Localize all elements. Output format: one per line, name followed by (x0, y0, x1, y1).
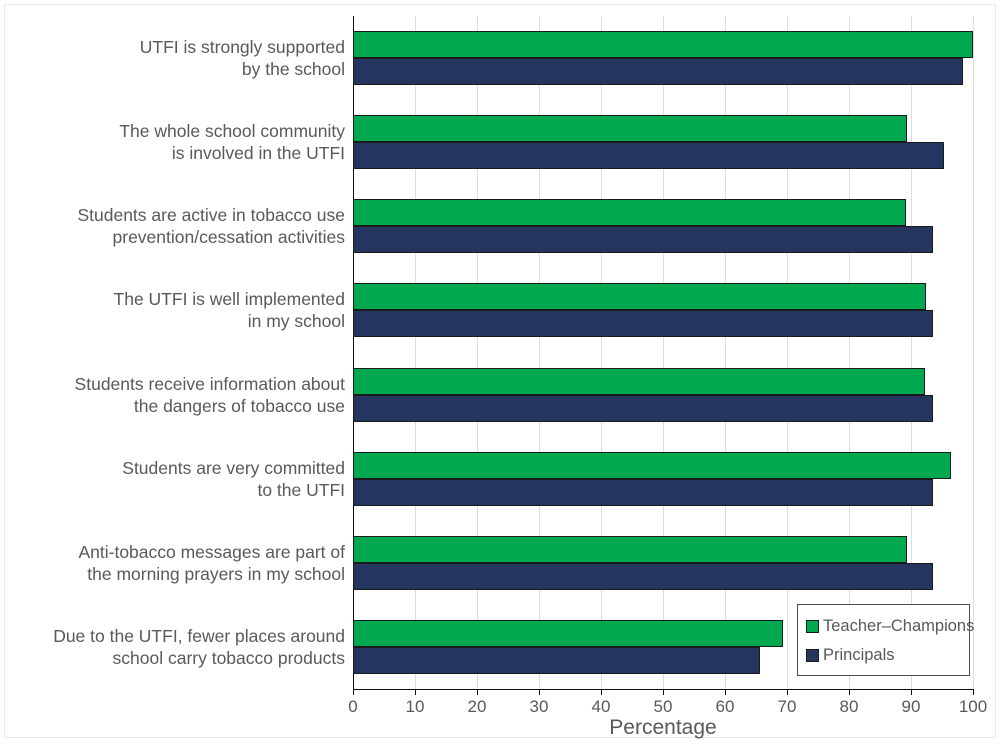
bar-principals (353, 395, 933, 422)
bar-teacher-champions (353, 31, 973, 58)
x-tick-label: 20 (468, 697, 487, 717)
bar-teacher-champions (353, 115, 907, 142)
x-tick-label: 100 (959, 697, 987, 717)
bar-principals (353, 142, 944, 169)
category-label-line: UTFI is strongly supported (0, 36, 345, 58)
legend-swatch-teacher-champions (806, 620, 819, 633)
x-tick-label: 70 (778, 697, 797, 717)
x-tick-mark (353, 689, 354, 695)
bar-teacher-champions (353, 368, 925, 395)
category-label-line: is involved in the UTFI (0, 142, 345, 164)
x-tick-mark (725, 689, 726, 695)
legend-item-principals: Principals (806, 641, 961, 670)
bar-principals (353, 563, 933, 590)
x-tick-mark (973, 689, 974, 695)
category-label-line: Students are active in tobacco use (0, 204, 345, 226)
category-label-line: The whole school community (0, 120, 345, 142)
gridline (973, 16, 974, 689)
bar-teacher-champions (353, 283, 926, 310)
bar-teacher-champions (353, 452, 951, 479)
x-tick-label: 0 (348, 697, 357, 717)
x-tick-mark (477, 689, 478, 695)
category-label: Anti-tobacco messages are part ofthe mor… (0, 541, 345, 585)
plot-area (353, 16, 973, 689)
category-label-line: Students receive information about (0, 373, 345, 395)
x-tick-mark (849, 689, 850, 695)
legend-label-principals: Principals (823, 646, 895, 665)
bar-teacher-champions (353, 199, 906, 226)
x-tick-mark (787, 689, 788, 695)
category-label-line: Due to the UTFI, fewer places around (0, 625, 345, 647)
x-tick-label: 10 (406, 697, 425, 717)
category-label: Students are active in tobacco usepreven… (0, 204, 345, 248)
x-tick-mark (415, 689, 416, 695)
category-label: Students receive information aboutthe da… (0, 373, 345, 417)
bar-teacher-champions (353, 620, 783, 647)
category-label-line: to the UTFI (0, 479, 345, 501)
legend-label-teacher-champions: Teacher–Champions (823, 617, 974, 636)
x-tick-mark (601, 689, 602, 695)
category-label-line: the morning prayers in my school (0, 563, 345, 585)
x-axis-title: Percentage (353, 716, 973, 740)
x-tick-mark (539, 689, 540, 695)
category-label: The UTFI is well implementedin my school (0, 288, 345, 332)
category-label-line: Anti-tobacco messages are part of (0, 541, 345, 563)
bar-principals (353, 58, 963, 85)
x-tick-label: 90 (902, 697, 921, 717)
x-tick-label: 40 (592, 697, 611, 717)
category-label: UTFI is strongly supportedby the school (0, 36, 345, 80)
bar-principals (353, 226, 933, 253)
category-label-line: by the school (0, 58, 345, 80)
category-label-line: the dangers of tobacco use (0, 395, 345, 417)
bar-principals (353, 479, 933, 506)
bar-teacher-champions (353, 536, 907, 563)
category-label: Students are very committedto the UTFI (0, 457, 345, 501)
bar-principals (353, 310, 933, 337)
category-label: Due to the UTFI, fewer places aroundscho… (0, 625, 345, 669)
category-label-line: The UTFI is well implemented (0, 288, 345, 310)
x-tick-label: 50 (654, 697, 673, 717)
x-tick-label: 30 (530, 697, 549, 717)
chart-legend: Teacher–Champions Principals (797, 604, 970, 676)
legend-item-teacher-champions: Teacher–Champions (806, 612, 961, 641)
legend-swatch-principals (806, 649, 819, 662)
category-label: The whole school communityis involved in… (0, 120, 345, 164)
x-tick-label: 80 (840, 697, 859, 717)
x-tick-mark (911, 689, 912, 695)
category-label-line: in my school (0, 310, 345, 332)
x-tick-label: 60 (716, 697, 735, 717)
chart-figure: UTFI is strongly supportedby the schoolT… (0, 0, 1000, 747)
x-tick-mark (663, 689, 664, 695)
category-label-line: school carry tobacco products (0, 647, 345, 669)
category-label-line: prevention/cessation activities (0, 226, 345, 248)
category-axis-labels: UTFI is strongly supportedby the schoolT… (0, 16, 345, 689)
category-label-line: Students are very committed (0, 457, 345, 479)
bar-principals (353, 647, 760, 674)
